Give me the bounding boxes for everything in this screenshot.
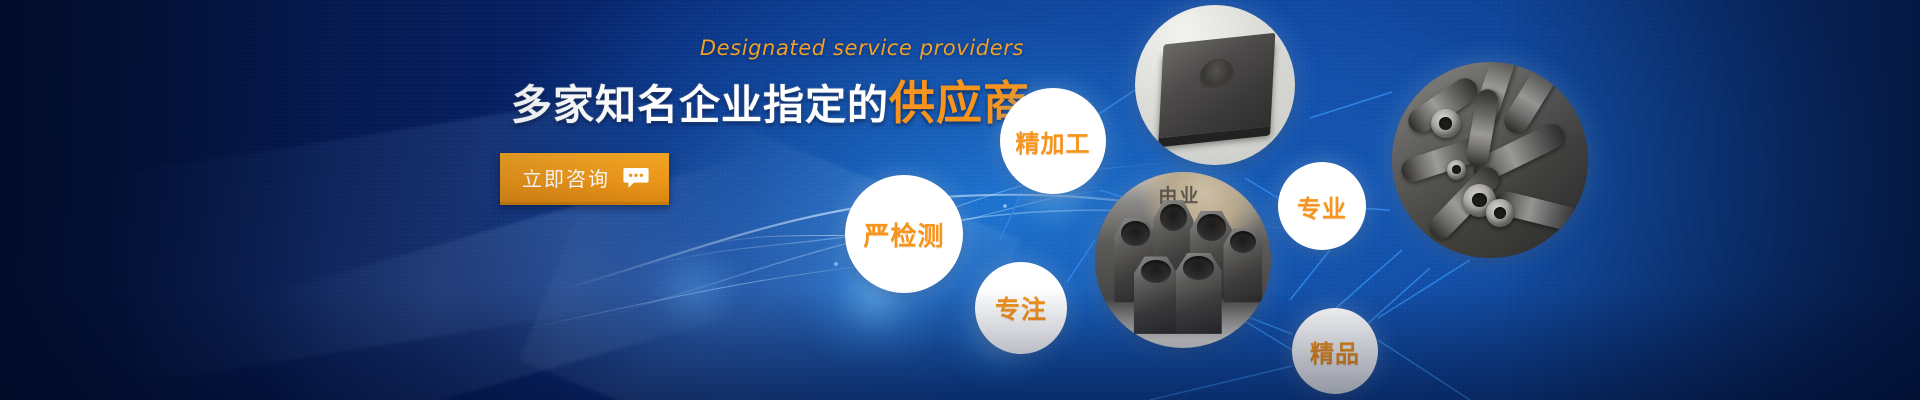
washer-plate-shape — [1158, 32, 1275, 137]
tube-ring-shape — [1431, 109, 1460, 138]
headline-primary: 多家知名企业指定的 — [511, 81, 889, 129]
keyword-bubble-label: 严检测 — [863, 216, 944, 253]
keyword-bubble-label: 专注 — [995, 290, 1047, 326]
keyword-bubble-zhuanye[interactable]: 专业 — [1278, 162, 1366, 250]
chat-bubble-icon — [623, 167, 649, 189]
consult-now-label: 立即咨询 — [522, 163, 610, 192]
keyword-bubble-label: 精加工 — [1016, 124, 1091, 159]
keyword-bubble-yanjiance[interactable]: 严检测 — [845, 175, 963, 293]
keyword-bubble-jingjiagong[interactable]: 精加工 — [1000, 88, 1106, 194]
headline-block: Designated service providers 多家知名企业指定的供应… — [470, 36, 1030, 205]
promo-banner: Designated service providers 多家知名企业指定的供应… — [0, 0, 1920, 400]
eyebrow-text: Designated service providers — [470, 36, 1030, 60]
washer-hole-shape — [1198, 57, 1233, 92]
square-steel-washer-plate-photo[interactable] — [1135, 5, 1295, 165]
hex-steel-nuts-photo[interactable]: 由业 — [1095, 172, 1271, 348]
steel-tubes-couplers-photo[interactable] — [1392, 62, 1588, 258]
tube-ring-shape — [1447, 160, 1467, 180]
hex-nut-shape — [1134, 256, 1178, 333]
hex-nut-shape — [1176, 253, 1222, 334]
keyword-bubble-jingpin[interactable]: 精品 — [1292, 308, 1378, 394]
glow-spot-3 — [640, 250, 750, 330]
keyword-bubble-label: 专业 — [1297, 189, 1347, 224]
keyword-bubble-zhuanzhu[interactable]: 专注 — [975, 262, 1067, 354]
consult-now-button[interactable]: 立即咨询 — [500, 153, 669, 205]
tube-ring-shape — [1486, 199, 1513, 226]
hex-nut-shape — [1223, 228, 1262, 302]
page-title: 多家知名企业指定的供应商 — [470, 67, 1030, 133]
keyword-bubble-label: 精品 — [1310, 334, 1360, 369]
